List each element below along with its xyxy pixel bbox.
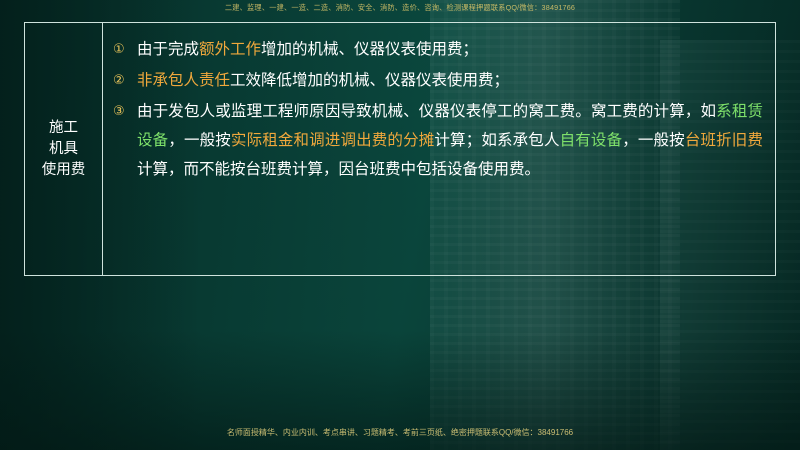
item-list: ① 由于完成额外工作增加的机械、仪器仪表使用费； ② 非承包人责任工效降低增加的… bbox=[113, 35, 763, 184]
list-item: ② 非承包人责任工效降低增加的机械、仪器仪表使用费； bbox=[113, 66, 763, 95]
highlight-segment: 台班折旧费 bbox=[685, 131, 763, 149]
list-item-text: 由于发包人或监理工程师原因导致机械、仪器仪表停工的窝工费。窝工费的计算，如系租赁… bbox=[137, 102, 763, 178]
table-row-label-text: 施工 机具 使用费 bbox=[42, 118, 86, 181]
bottom-watermark-text: 名师面授精华、内业内训、考点串讲、习题精考、考前三页纸、绝密押题联系QQ/微信：… bbox=[0, 427, 800, 438]
list-item-text: 非承包人责任工效降低增加的机械、仪器仪表使用费； bbox=[137, 71, 509, 89]
slide-root: 二建、监理、一建、一造、二造、消防、安全、消防、造价、咨询、检测课程押题联系QQ… bbox=[0, 0, 800, 450]
table-row-label-cell: 施工 机具 使用费 bbox=[25, 23, 103, 275]
highlight-segment: 自有设备 bbox=[560, 131, 623, 149]
text-segment: 工效降低增加的机械、仪器仪表使用费； bbox=[230, 71, 509, 89]
list-item: ③ 由于发包人或监理工程师原因导致机械、仪器仪表停工的窝工费。窝工费的计算，如系… bbox=[113, 97, 763, 184]
list-item: ① 由于完成额外工作增加的机械、仪器仪表使用费； bbox=[113, 35, 763, 64]
text-segment: ，一般按 bbox=[622, 131, 685, 149]
highlight-segment: 实际租金和调进调出费的分摊 bbox=[231, 131, 434, 149]
text-segment: 由于发包人或监理工程师原因导致机械、仪器仪表停工的窝工费。窝工费的计算，如 bbox=[137, 102, 716, 120]
list-item-marker: ③ bbox=[113, 97, 125, 126]
text-segment: 增加的机械、仪器仪表使用费； bbox=[261, 40, 478, 58]
content-table: 施工 机具 使用费 ① 由于完成额外工作增加的机械、仪器仪表使用费； ② 非承包… bbox=[24, 22, 776, 276]
list-item-text: 由于完成额外工作增加的机械、仪器仪表使用费； bbox=[137, 40, 478, 58]
list-item-marker: ① bbox=[113, 35, 125, 64]
top-watermark-text: 二建、监理、一建、一造、二造、消防、安全、消防、造价、咨询、检测课程押题联系QQ… bbox=[0, 3, 800, 13]
text-segment: 计算，而不能按台班费计算，因台班费中包括设备使用费。 bbox=[137, 160, 540, 178]
text-segment: ，一般按 bbox=[168, 131, 231, 149]
text-segment: 计算；如系承包人 bbox=[434, 131, 559, 149]
list-item-marker: ② bbox=[113, 66, 125, 95]
table-row-content-cell: ① 由于完成额外工作增加的机械、仪器仪表使用费； ② 非承包人责任工效降低增加的… bbox=[103, 23, 775, 275]
highlight-segment: 非承包人责任 bbox=[137, 71, 230, 89]
highlight-segment: 额外工作 bbox=[199, 40, 261, 58]
text-segment: 由于完成 bbox=[137, 40, 199, 58]
